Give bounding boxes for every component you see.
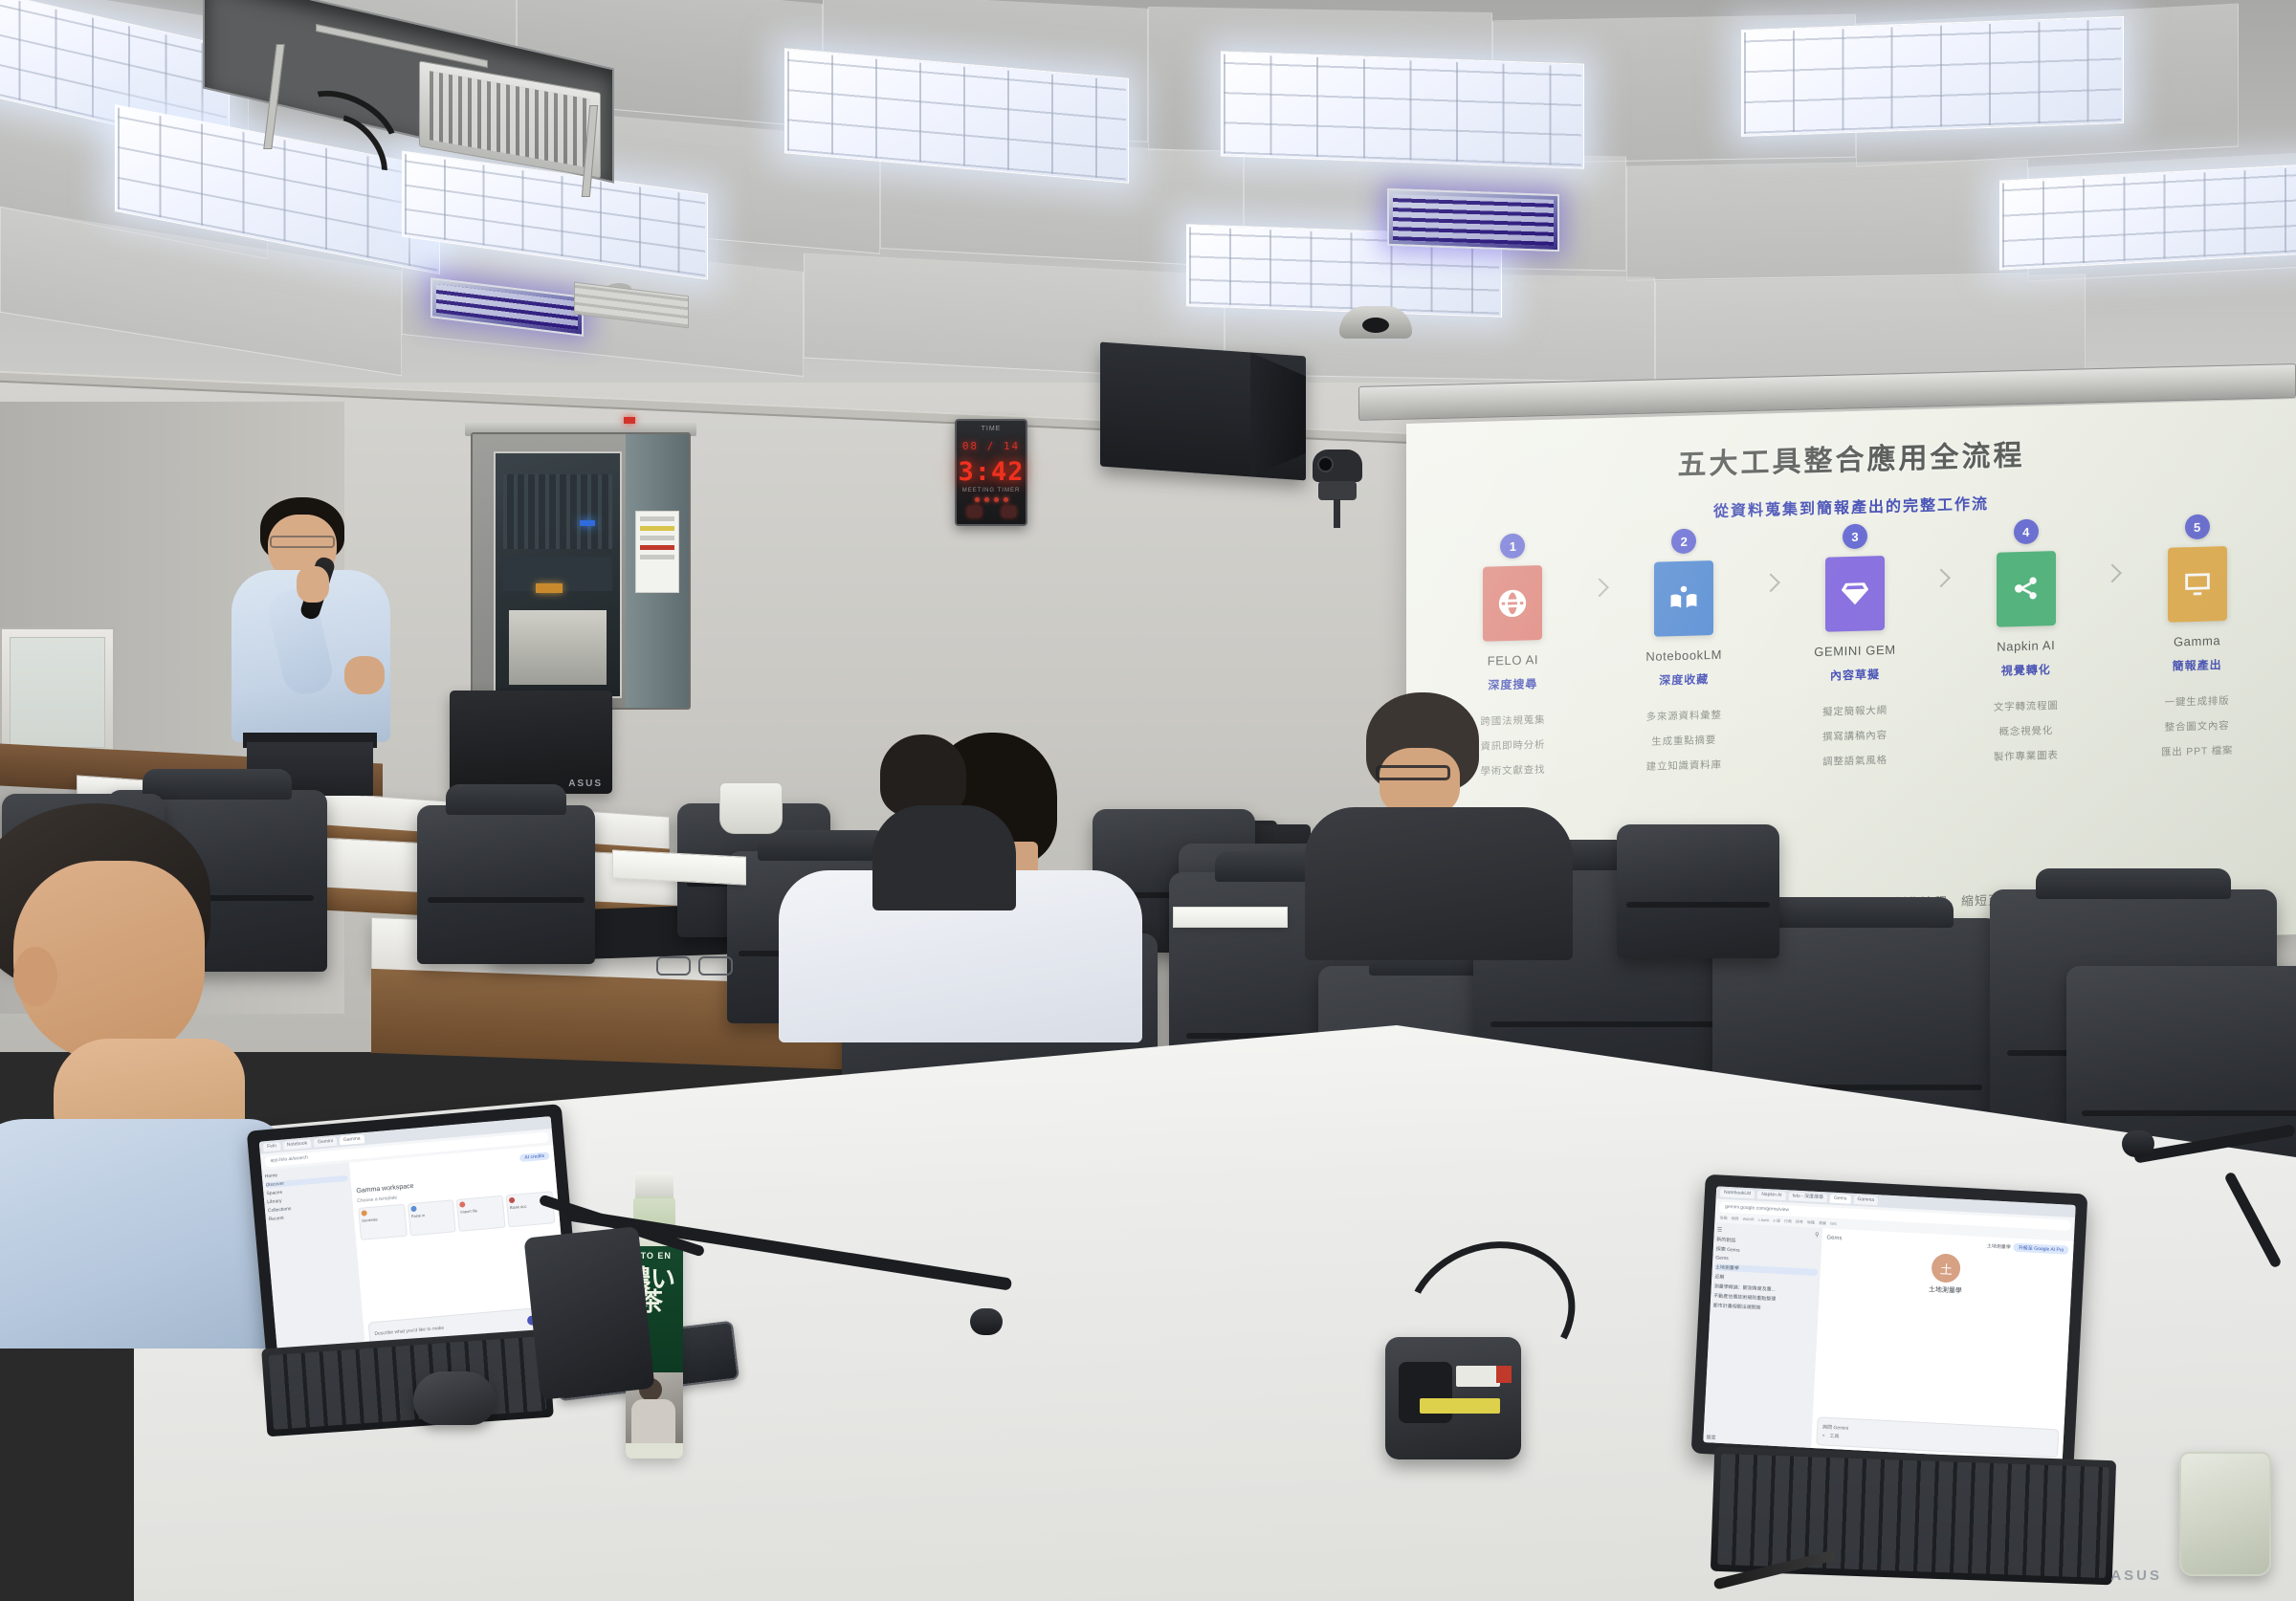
bottle-cap: [635, 1172, 673, 1198]
step-number-badge: 4: [2014, 519, 2039, 545]
clock-sublabel: MEETING TIMER: [957, 488, 1026, 493]
ai-credits-badge: AI credits: [519, 1151, 549, 1162]
laptop-right[interactable]: NotebookLM Napkin AI felo - 深度搜尋 Gems Ga…: [1691, 1174, 2088, 1474]
office-chair[interactable]: [1617, 824, 1779, 958]
diamond-icon: [1839, 577, 1871, 610]
browser-tab[interactable]: felo - 深度搜尋: [1788, 1192, 1827, 1202]
monitor-brand-label: ASUS: [568, 779, 603, 789]
workflow-step-5[interactable]: 5 Gamma 簡報產出 一鍵生成排版 整合圖文內容 匯出 PPT 檔案: [2111, 512, 2283, 760]
rack-glass-door[interactable]: [494, 451, 622, 698]
card-title: Generate: [362, 1215, 403, 1223]
add-attachment-icon[interactable]: +: [1821, 1433, 1824, 1438]
step-name: GEMINI GEM: [1814, 643, 1895, 659]
attendee-shirt: [1305, 807, 1573, 960]
workflow-step-2[interactable]: 2 NotebookLM 深度收藏 多來源資料彙整 生成重點摘要 建立知識資料庫: [1599, 526, 1770, 775]
step-bullet: 一鍵生成排版: [2165, 693, 2230, 710]
step-role: 深度搜尋: [1488, 675, 1537, 692]
attendee-right: [1320, 692, 1569, 951]
attendee-shirt: [0, 1119, 287, 1349]
step-number-badge: 5: [2185, 515, 2210, 540]
card-title: Paste in: [411, 1210, 453, 1218]
presenter-hand: [297, 566, 329, 603]
digital-clock: TIME 08 / 14 3:42 MEETING TIMER: [955, 419, 1027, 526]
drinking-tumbler: [2179, 1452, 2271, 1576]
clock-date: 08 / 14: [957, 440, 1026, 452]
composer-hint: 詢問 Gemini: [1822, 1423, 1849, 1431]
conference-room-scene: 五大工具整合應用全流程 從資料蒐集到簡報產出的完整工作流 1 FELO AI 深…: [0, 0, 2296, 1601]
attendee-glasses-icon: [1376, 765, 1450, 780]
step-bullet: 匯出 PPT 檔案: [2161, 743, 2233, 759]
workflow-step-4[interactable]: 4 Napkin AI 視覺轉化 文字轉流程圖 概念視覺化 製作專業圖表: [1940, 516, 2111, 765]
bookmark-item[interactable]: 測量: [1819, 1220, 1826, 1226]
step-bullets: 文字轉流程圖 概念視覺化 製作專業圖表: [1994, 698, 2059, 764]
presenter-person: [226, 497, 398, 794]
laptop-brand-label: ASUS: [2110, 1568, 2162, 1584]
conference-microphone-pod[interactable]: [1385, 1337, 1521, 1459]
paper-sheet: [1173, 907, 1288, 928]
template-card[interactable]: Import file: [456, 1195, 506, 1232]
rack-power-led: [624, 417, 635, 424]
eyeglasses: [656, 956, 742, 977]
node-graph-icon: [2010, 572, 2042, 605]
gem-avatar: 土: [1932, 1253, 1962, 1283]
ceiling-light-fixture: [1221, 51, 1584, 168]
globe-icon: [1496, 586, 1529, 620]
step-number-badge: 3: [1843, 524, 1867, 550]
tools-button[interactable]: 工具: [1829, 1433, 1839, 1440]
clock-buttons[interactable]: [957, 506, 1026, 517]
bookmark-item[interactable]: 信箱: [1719, 1216, 1727, 1221]
browser-tab[interactable]: Felo: [263, 1142, 280, 1152]
step-bullet: 文字轉流程圖: [1994, 698, 2059, 714]
step-number-badge: 1: [1500, 534, 1525, 559]
monitor-icon: [2181, 567, 2214, 601]
gem-chip[interactable]: 土地測量學: [1987, 1242, 2011, 1250]
step-bullets: 多來源資料彙整 生成重點摘要 建立知識資料庫: [1646, 708, 1722, 774]
step-bullet: 多來源資料彙整: [1646, 708, 1722, 724]
notebooklm-tile[interactable]: [1654, 560, 1713, 637]
browser-tab[interactable]: Gemini: [314, 1137, 338, 1148]
search-icon[interactable]: ⚲: [1815, 1232, 1820, 1239]
step-role: 視覺轉化: [2001, 661, 2051, 678]
attendee-center-back: [880, 735, 1043, 888]
presenter-gesturing-hand: [344, 656, 385, 694]
laptop-left-screen[interactable]: Felo Notebook Gemini Gamma app.felo.ai/s…: [259, 1116, 570, 1357]
gamma-tile[interactable]: [2168, 546, 2227, 623]
dome-camera-icon: [1339, 306, 1412, 339]
slide-title: 五大工具整合應用全流程: [1435, 425, 2267, 490]
step-bullet: 生成重點摘要: [1651, 733, 1716, 749]
bookmark-item[interactable]: GIS: [1830, 1221, 1837, 1227]
template-card[interactable]: Generate: [358, 1204, 408, 1240]
browser-tab[interactable]: NotebookLM: [1720, 1189, 1755, 1199]
book-reader-icon: [1667, 581, 1700, 615]
step-role: 簡報產出: [2173, 656, 2222, 673]
step-bullet: 調整語氣風格: [1822, 753, 1888, 769]
bookmark-item[interactable]: c.bank: [1757, 1217, 1769, 1224]
app-sidebar[interactable]: Home Discover Spaces Library Collections…: [261, 1163, 365, 1357]
presenter-glasses-icon: [270, 536, 335, 548]
clock-brand: TIME: [957, 426, 1026, 432]
ceiling-light-fixture: [1999, 164, 2296, 270]
office-chair[interactable]: [417, 805, 595, 964]
rack-label: [635, 511, 679, 593]
template-card[interactable]: Paste in: [408, 1199, 457, 1236]
gemini-gem-tile[interactable]: [1825, 556, 1885, 632]
attendee-ear: [13, 947, 57, 1006]
browser-tab-active[interactable]: Gamma: [340, 1134, 364, 1145]
ptz-camera-icon: [1311, 450, 1364, 528]
clock-time: 3:42: [957, 457, 1026, 487]
step-bullets: 一鍵生成排版 整合圖文內容 匯出 PPT 檔案: [2161, 693, 2233, 759]
cubicle-partition: [0, 627, 115, 757]
card-title: Import file: [460, 1206, 501, 1215]
step-role: 深度收藏: [1659, 670, 1709, 688]
bookmark-item[interactable]: 地政: [1731, 1216, 1738, 1221]
workflow-step-3[interactable]: 3 GEMINI GEM 內容草擬 擬定簡報大綱 撰寫講稿內容 調整語氣風格: [1770, 521, 1941, 770]
bookmark-item[interactable]: 行政: [1784, 1218, 1792, 1224]
warning-sticker: [1496, 1366, 1512, 1383]
bookmark-item[interactable]: WebIR: [1742, 1217, 1754, 1223]
ceiling-light-fixture: [1741, 16, 2124, 137]
napkin-ai-tile[interactable]: [1997, 551, 2056, 627]
sidebar-recent-item[interactable]: 都市計畫相關法規問答: [1713, 1302, 1816, 1314]
step-bullet: 擬定簡報大綱: [1822, 703, 1888, 719]
step-name: FELO AI: [1488, 652, 1538, 668]
step-bullet: 撰寫講稿內容: [1822, 728, 1888, 744]
step-bullet: 建立知識資料庫: [1646, 757, 1722, 774]
laptop-right-screen[interactable]: NotebookLM Napkin AI felo - 深度搜尋 Gems Ga…: [1703, 1186, 2076, 1460]
step-number-badge: 2: [1671, 529, 1696, 555]
air-diffuser-uv-icon: [1387, 188, 1559, 252]
microphone-head: [970, 1308, 1003, 1335]
step-role: 內容草擬: [1830, 666, 1880, 683]
microphone-head: [2122, 1130, 2154, 1157]
prompt-placeholder: Describe what you'd like to make: [374, 1326, 444, 1337]
step-name: Gamma: [2174, 633, 2220, 648]
felo-ai-tile[interactable]: [1483, 565, 1542, 642]
wall-speaker: [1100, 341, 1306, 480]
upgrade-badge[interactable]: 升級至 Google AI Pro: [2014, 1243, 2069, 1255]
clock-indicator-leds: [957, 497, 1026, 502]
asset-tag-sticker: [1420, 1398, 1500, 1414]
step-bullet: 製作專業圖表: [1994, 748, 2059, 764]
browser-tab[interactable]: Notebook: [283, 1139, 312, 1151]
step-bullet: 概念視覺化: [1999, 723, 2054, 739]
hamburger-menu-icon[interactable]: ☰: [1717, 1226, 1723, 1233]
step-bullet: 整合圖文內容: [2165, 718, 2230, 735]
step-name: NotebookLM: [1645, 647, 1722, 664]
computer-mouse[interactable]: [413, 1371, 496, 1425]
step-name: Napkin AI: [1997, 638, 2055, 654]
browser-tab[interactable]: Gamma: [1853, 1195, 1878, 1205]
product-name: Gems: [1826, 1235, 1842, 1241]
gemini-sidebar[interactable]: ☰ ⚲ 新的對話 探索 Gems Gems 土地測量學 近期 測量學概論：觀測角…: [1703, 1222, 1822, 1450]
gemini-main-panel: Gems 土地測量學 升級至 Google AI Pro 土 土地測量學 詢問 …: [1811, 1228, 2074, 1460]
browser-tab-active[interactable]: Gems: [1830, 1195, 1851, 1204]
asset-sticker: [1456, 1366, 1500, 1387]
step-bullets: 擬定簡報大綱 撰寫講稿內容 調整語氣風格: [1822, 703, 1888, 769]
attendee-shirt: [872, 805, 1016, 910]
bookmark-item[interactable]: 地籍: [1807, 1219, 1815, 1225]
tablet-stand: [523, 1226, 654, 1400]
browser-tab[interactable]: Napkin AI: [1757, 1191, 1786, 1201]
av-equipment-rack: [471, 432, 691, 710]
bookmark-item[interactable]: 研考: [1796, 1219, 1803, 1225]
bookmark-item[interactable]: e-道: [1773, 1217, 1780, 1223]
asus-monitor: ASUS: [450, 691, 612, 794]
paper-cup: [719, 782, 783, 834]
